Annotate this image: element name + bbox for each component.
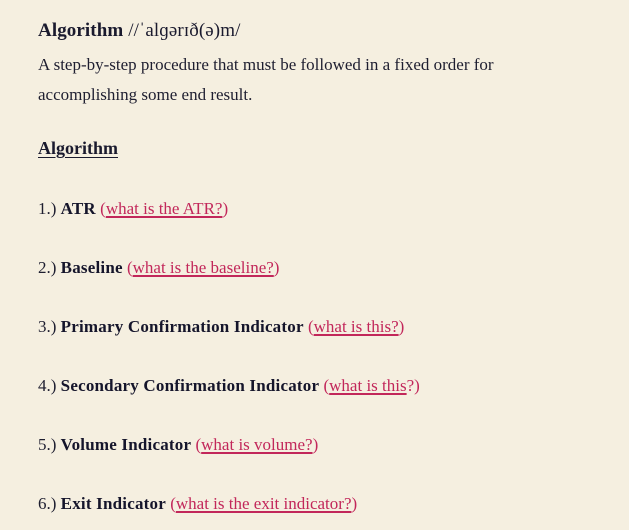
list-item: 1.) ATR (what is the ATR?) xyxy=(38,197,609,221)
list-item-link[interactable]: what is the baseline? xyxy=(133,258,274,277)
list-item: 5.) Volume Indicator (what is volume?) xyxy=(38,433,609,457)
close-paren: ) xyxy=(414,376,420,395)
list-item-number: 5.) xyxy=(38,435,56,454)
close-paren: ) xyxy=(352,494,358,513)
close-paren: ) xyxy=(313,435,319,454)
entry-phonetic-text: /ˈalɡərɪð(ə)m/ xyxy=(134,20,241,41)
page-title: Algorithm //ˈalɡərɪð(ə)m/ xyxy=(38,18,609,44)
list-item: 3.) Primary Confirmation Indicator (what… xyxy=(38,315,609,339)
list-item-link[interactable]: what is this xyxy=(329,376,406,395)
list-item-link[interactable]: what is the ATR? xyxy=(106,199,223,218)
section-heading: Algorithm xyxy=(38,136,118,160)
list-item: 4.) Secondary Confirmation Indicator (wh… xyxy=(38,374,609,398)
list-item-link-group: (what is the baseline?) xyxy=(127,258,280,277)
list-item: 6.) Exit Indicator (what is the exit ind… xyxy=(38,492,609,516)
entry-definition: A step-by-step procedure that must be fo… xyxy=(38,50,586,110)
list-item-link-group: (what is this?) xyxy=(323,376,419,395)
list-item-link-group: (what is this?) xyxy=(308,317,404,336)
list-item-number: 1.) xyxy=(38,199,56,218)
list-item-term: ATR xyxy=(61,199,96,218)
list-item-term: Exit Indicator xyxy=(61,494,166,513)
close-paren: ) xyxy=(399,317,405,336)
close-paren: ) xyxy=(274,258,280,277)
list-item-term: Primary Confirmation Indicator xyxy=(61,317,304,336)
list-item-link[interactable]: what is volume? xyxy=(201,435,312,454)
entry-phonetic: //ˈalɡərɪð(ə)m/ xyxy=(123,20,240,41)
close-paren: ) xyxy=(222,199,228,218)
list-item-link-group: (what is the exit indicator?) xyxy=(170,494,357,513)
section-heading-row: Algorithm xyxy=(38,110,609,160)
entry-word: Algorithm xyxy=(38,20,123,41)
algorithm-list: 1.) ATR (what is the ATR?) 2.) Baseline … xyxy=(38,197,609,516)
article-page: Algorithm //ˈalɡərɪð(ə)m/ A step-by-step… xyxy=(0,0,629,530)
list-item-term: Baseline xyxy=(61,258,123,277)
list-item-term: Secondary Confirmation Indicator xyxy=(61,376,320,395)
list-item-number: 6.) xyxy=(38,494,56,513)
list-item-link[interactable]: what is this? xyxy=(314,317,399,336)
list-item-number: 4.) xyxy=(38,376,56,395)
list-item-number: 3.) xyxy=(38,317,56,336)
list-item-link-group: (what is the ATR?) xyxy=(100,199,228,218)
list-item-link-group: (what is volume?) xyxy=(195,435,318,454)
list-item-term: Volume Indicator xyxy=(61,435,192,454)
list-item-number: 2.) xyxy=(38,258,56,277)
list-item-link[interactable]: what is the exit indicator? xyxy=(176,494,352,513)
list-item: 2.) Baseline (what is the baseline?) xyxy=(38,256,609,280)
